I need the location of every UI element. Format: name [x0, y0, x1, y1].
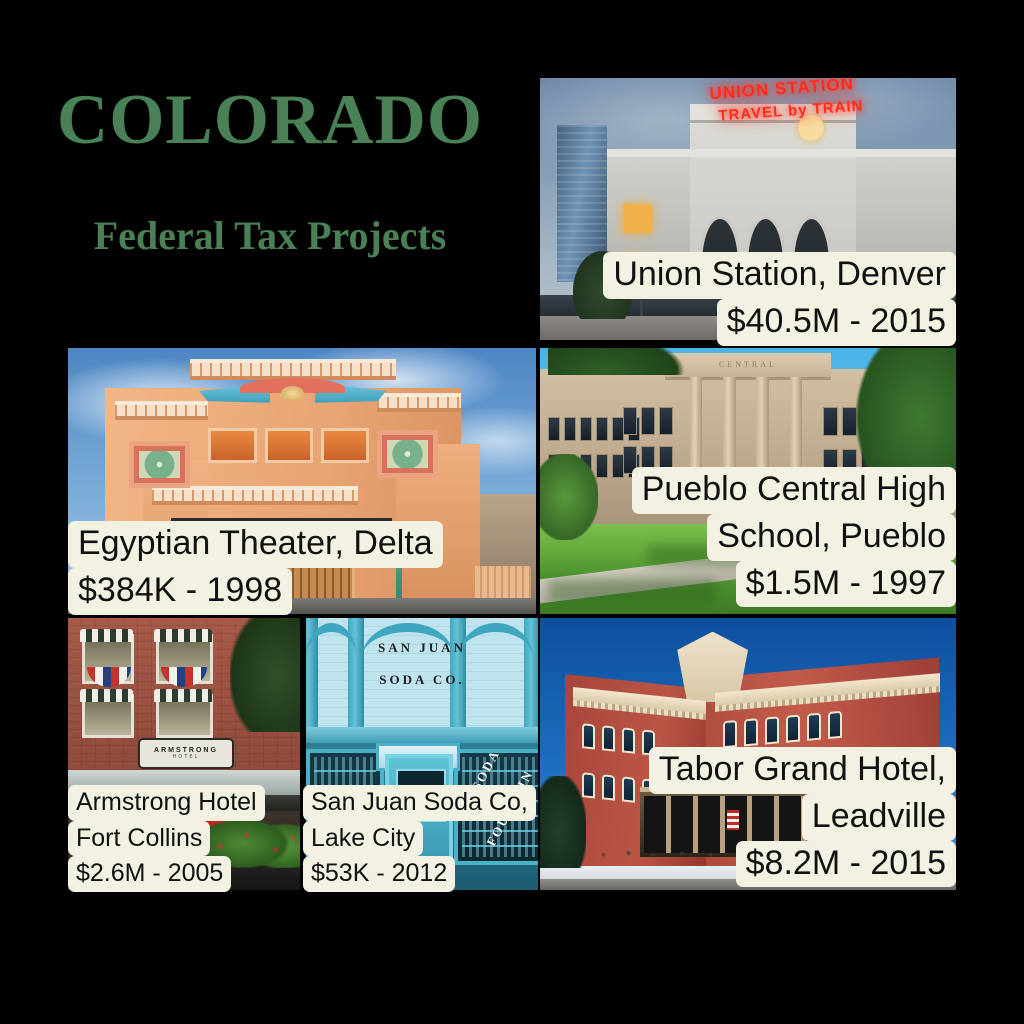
sun-orb — [281, 386, 303, 402]
winged-sun-disk — [199, 377, 386, 409]
cornice — [607, 149, 956, 157]
awning — [80, 689, 133, 702]
caption-tabor-grand-hotel: Tabor Grand Hotel, Leadville $8.2M - 201… — [649, 747, 956, 887]
window — [321, 428, 369, 463]
caption-amount-year: $2.6M - 2005 — [68, 856, 231, 892]
pilaster — [524, 618, 538, 727]
poster-canvas: COLORADO Federal Tax Projects UNION STAT… — [0, 0, 1024, 1024]
caption-title-line: Tabor Grand Hotel, — [649, 747, 956, 794]
caption-title-line: Pueblo Central High — [632, 467, 956, 514]
logo-line-2: SODA CO. — [366, 672, 477, 688]
wood-fence — [475, 566, 531, 601]
caption-title-line: Leadville — [802, 794, 956, 841]
caption-armstrong-hotel: Armstrong Hotel Fort Collins $2.6M - 200… — [68, 785, 265, 892]
caption-amount-year: $53K - 2012 — [303, 856, 455, 892]
evergreen-tree — [540, 776, 586, 868]
caption-amount-year: $40.5M - 2015 — [717, 299, 956, 346]
cornice-right — [377, 393, 461, 412]
caption-union-station: Union Station, Denver $40.5M - 2015 — [603, 252, 956, 346]
rosette-panel — [129, 441, 190, 488]
awning — [80, 629, 133, 642]
caption-title-line: Fort Collins — [68, 821, 210, 857]
tree — [230, 618, 300, 732]
painted-logo: SAN JUAN SODA CO. — [366, 637, 477, 713]
rosette-panel — [377, 430, 438, 477]
hotel-sign: ARMSTRONG HOTEL — [138, 738, 235, 769]
caption-title-line: Union Station, Denver — [603, 252, 956, 299]
poster-header: COLORADO Federal Tax Projects — [0, 85, 540, 256]
frieze-text: CENTRAL — [665, 360, 831, 369]
frieze: CENTRAL — [665, 353, 831, 380]
page-title: COLORADO — [0, 85, 540, 156]
cornice-mid — [152, 486, 358, 505]
tree-branches — [548, 348, 689, 375]
hotel-sign-sub: HOTEL — [173, 754, 200, 760]
awning — [154, 689, 212, 702]
hotel-sign-name: ARMSTRONG — [154, 747, 218, 754]
awning — [154, 629, 212, 642]
window — [265, 428, 313, 463]
rosette-art — [387, 440, 428, 467]
caption-title-line: School, Pueblo — [707, 514, 956, 561]
page-subtitle: Federal Tax Projects — [0, 216, 540, 256]
window — [208, 428, 256, 463]
caption-amount-year: $8.2M - 2015 — [736, 841, 956, 888]
logo-line-1: SAN JUAN — [366, 640, 477, 656]
caption-amount-year: $1.5M - 1997 — [736, 561, 956, 608]
window-row — [623, 407, 673, 435]
caption-egyptian-theater: Egyptian Theater, Delta $384K - 1998 — [68, 521, 443, 615]
rosette-art — [139, 451, 180, 478]
caption-title-line: Lake City — [303, 821, 423, 857]
caption-san-juan-soda-co: San Juan Soda Co, Lake City $53K - 2012 — [303, 785, 536, 892]
tree — [540, 454, 598, 539]
caption-title-line: Egyptian Theater, Delta — [68, 521, 443, 568]
lit-window — [623, 204, 652, 233]
caption-title-line: San Juan Soda Co, — [303, 785, 536, 821]
caption-title-line: Armstrong Hotel — [68, 785, 265, 821]
storefront-beam — [306, 727, 538, 743]
cornice-left — [115, 401, 209, 420]
caption-pueblo-central-high: Pueblo Central High School, Pueblo $1.5M… — [632, 467, 956, 607]
caption-amount-year: $384K - 1998 — [68, 568, 292, 615]
